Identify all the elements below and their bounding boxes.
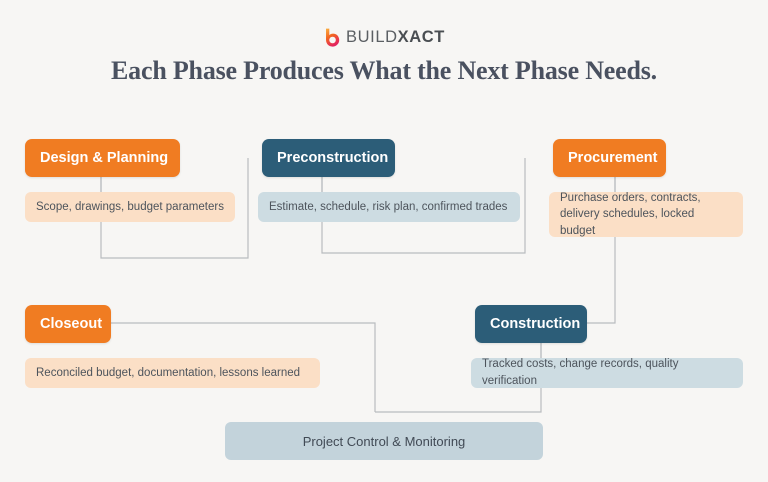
- phase-title-label: Construction: [490, 316, 580, 332]
- phase-title-label: Preconstruction: [277, 150, 388, 166]
- phase-detail-preconstruction: Estimate, schedule, risk plan, confirmed…: [258, 192, 520, 222]
- phase-detail-closeout: Reconciled budget, documentation, lesson…: [25, 358, 320, 388]
- connector-lines: [0, 0, 768, 482]
- process-flow-diagram: Design & Planning Scope, drawings, budge…: [0, 0, 768, 482]
- phase-detail-label: Estimate, schedule, risk plan, confirmed…: [269, 199, 507, 216]
- phase-title-label: Procurement: [568, 150, 657, 166]
- summary-node-project-control[interactable]: Project Control & Monitoring: [225, 422, 543, 460]
- phase-detail-label: Scope, drawings, budget parameters: [36, 199, 224, 216]
- phase-node-design-planning[interactable]: Design & Planning: [25, 139, 180, 177]
- phase-detail-label: Reconciled budget, documentation, lesson…: [36, 365, 300, 382]
- phase-detail-procurement: Purchase orders, contracts, delivery sch…: [549, 192, 743, 237]
- phase-node-procurement[interactable]: Procurement: [553, 139, 666, 177]
- phase-node-construction[interactable]: Construction: [475, 305, 587, 343]
- phase-detail-construction: Tracked costs, change records, quality v…: [471, 358, 743, 388]
- phase-node-preconstruction[interactable]: Preconstruction: [262, 139, 395, 177]
- phase-node-closeout[interactable]: Closeout: [25, 305, 111, 343]
- phase-detail-design-planning: Scope, drawings, budget parameters: [25, 192, 235, 222]
- summary-label: Project Control & Monitoring: [303, 434, 466, 449]
- phase-detail-label: Tracked costs, change records, quality v…: [482, 356, 732, 389]
- phase-title-label: Closeout: [40, 316, 102, 332]
- phase-detail-label: Purchase orders, contracts, delivery sch…: [560, 190, 732, 240]
- phase-title-label: Design & Planning: [40, 150, 168, 166]
